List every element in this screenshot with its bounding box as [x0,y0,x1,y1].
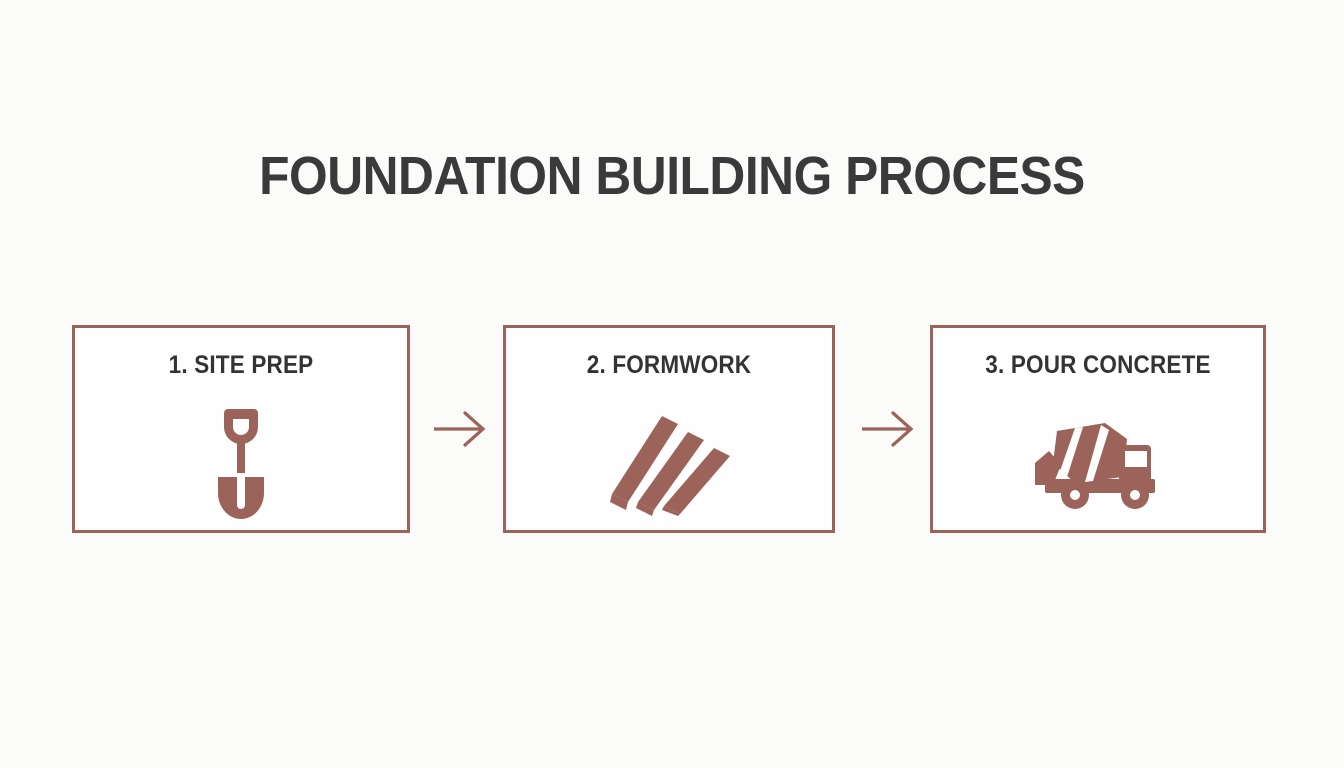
page-title: FOUNDATION BUILDING PROCESS [54,145,1290,207]
arrow-right-icon-2 [860,410,918,448]
step-label-formwork: 2. FORMWORK [522,350,815,380]
step-box-pour-concrete[interactable]: 3. POUR CONCRETE [930,325,1266,533]
shovel-icon [75,400,407,526]
arrow-right-icon-1 [432,410,490,448]
step-box-formwork[interactable]: 2. FORMWORK [503,325,835,533]
step-box-site-prep[interactable]: 1. SITE PREP [72,325,410,533]
process-flow: 1. SITE PREP [72,325,1266,533]
diagram-canvas: FOUNDATION BUILDING PROCESS 1. SITE PREP [0,0,1344,768]
step-label-pour-concrete: 3. POUR CONCRETE [950,350,1247,380]
cement-mixer-truck-icon [933,400,1263,526]
wood-planks-icon [506,400,832,526]
step-label-site-prep: 1. SITE PREP [92,350,391,380]
